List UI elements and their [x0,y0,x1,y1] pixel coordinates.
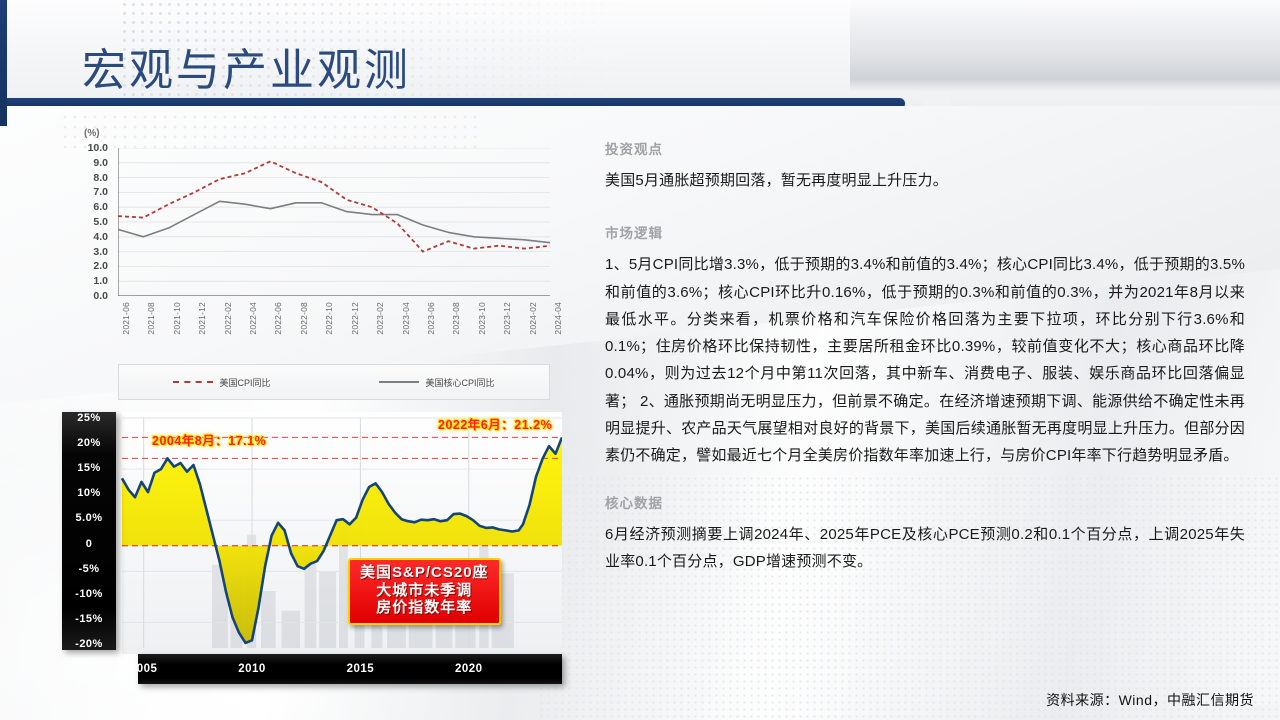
section-body-market-logic: 1、5月CPI同比增3.3%，低于预期的3.4%和前值的3.4%；核心CPI同比… [605,251,1245,469]
chart-us-cpi-x-tick: 2022-04 [248,302,258,335]
chart-sp-cs20-y-tick: 0 [62,538,116,550]
chart-us-cpi-x-tick: 2022-06 [273,302,283,335]
left-accent-bar [0,0,7,126]
chart-sp-cs20-title: 美国S&P/CS20座 大城市未季调 房价指数年率 [348,558,501,625]
section-heading-core-data: 核心数据 [605,492,1245,512]
source-note: 资料来源：Wind，中融汇信期货 [1046,690,1254,710]
chart-us-cpi-x-tick: 2023-12 [502,302,512,335]
chart-sp-cs20-y-tick: 15% [62,462,116,474]
header-gradient-panel [850,0,1280,92]
annotation-2022-peak: 2022年6月：21.2% [438,414,552,433]
chart-us-cpi-legend: 美国CPI同比 美国核心CPI同比 [118,364,550,400]
page-title: 宏观与产业观测 [82,34,411,98]
chart-us-cpi-y-tick: 3.0 [93,246,108,258]
chart-us-cpi-y-tick: 9.0 [93,157,108,169]
chart-sp-cs20-title-line2: 大城市未季调 [360,582,489,600]
chart-us-cpi-y-tick: 2.0 [93,260,108,272]
chart-us-cpi-y-tick: 10.0 [88,142,108,154]
chart-us-cpi-plot [118,148,550,296]
legend-item-cpi: 美国CPI同比 [173,376,270,389]
chart-sp-cs20-y-tick: 20% [62,437,116,449]
chart-sp-cs20-x-tick: 2010 [238,663,266,675]
chart-us-cpi-x-tick: 2022-08 [299,302,309,335]
chart-us-cpi-y-axis: 0.01.02.03.04.05.06.07.08.09.010.0 [62,148,112,296]
chart-us-cpi-y-tick: 8.0 [93,172,108,184]
chart-us-cpi-x-tick: 2024-02 [528,302,538,335]
chart-us-cpi-y-tick: 4.0 [93,231,108,243]
slide-header: 宏观与产业观测 [0,0,1280,106]
chart-sp-cs20-x-tick: 2015 [347,663,375,675]
section-investment-view: 投资观点 美国5月通胀超预期回落，暂无再度明显上升压力。 [605,138,1245,194]
chart-us-cpi-unit: (%) [84,128,100,139]
legend-swatch-dashed-icon [173,381,213,383]
chart-us-cpi: (%) 0.01.02.03.04.05.06.07.08.09.010.0 2… [62,126,562,406]
chart-sp-cs20-y-tick: 5.0% [62,512,116,524]
header-accent-rule-cap [890,92,950,106]
chart-us-cpi-x-tick: 2022-12 [350,302,360,335]
header-accent-rule [0,98,905,106]
legend-label-core-cpi: 美国核心CPI同比 [425,376,494,389]
chart-sp-cs20-x-axis: 2005201020152020 [138,654,562,684]
chart-us-cpi-x-tick: 2021-10 [172,302,182,335]
chart-us-cpi-x-tick: 2023-08 [451,302,461,335]
spacer-1 [605,194,1245,222]
chart-sp-cs20-y-tick: -10% [62,588,116,600]
slide-root: 宏观与产业观测 (%) 0.01.02.03.04.05.06.07.08.09… [0,0,1280,720]
section-body-investment-view: 美国5月通胀超预期回落，暂无再度明显上升压力。 [605,167,1245,194]
chart-us-cpi-y-tick: 1.0 [93,275,108,287]
chart-us-cpi-x-tick: 2021-12 [197,302,207,335]
chart-sp-cs20-y-tick: 25% [62,412,116,424]
section-market-logic: 市场逻辑 1、5月CPI同比增3.3%，低于预期的3.4%和前值的3.4%；核心… [605,222,1245,469]
chart-sp-cs20-y-tick: -15% [62,613,116,625]
section-body-core-data: 6月经济预测摘要上调2024年、2025年PCE及核心PCE预测0.2和0.1个… [605,521,1245,576]
chart-us-cpi-x-tick: 2023-06 [426,302,436,335]
chart-sp-cs20-y-tick: 10% [62,487,116,499]
chart-sp-cs20-y-tick: -20% [62,638,116,650]
chart-us-cpi-x-tick: 2023-10 [477,302,487,335]
chart-sp-cs20-y-axis: 25%20%15%10%5.0%0-5%-10%-15%-20% [62,412,116,650]
chart-sp-cs20-title-line1: 美国S&P/CS20座 [360,564,489,582]
chart-us-cpi-x-tick: 2022-10 [324,302,334,335]
section-core-data: 核心数据 6月经济预测摘要上调2024年、2025年PCE及核心PCE预测0.2… [605,492,1245,576]
annotation-2004-peak: 2004年8月：17.1% [152,430,266,449]
chart-sp-cs20-x-tick: 2020 [455,663,483,675]
chart-sp-cs20-x-tick: 2005 [130,663,158,675]
chart-sp-cs20-title-line3: 房价指数年率 [360,599,489,617]
legend-label-cpi: 美国CPI同比 [219,376,270,389]
chart-us-cpi-y-tick: 7.0 [93,186,108,198]
chart-us-cpi-y-tick: 5.0 [93,216,108,228]
spacer-2 [605,470,1245,492]
section-heading-investment-view: 投资观点 [605,138,1245,158]
chart-us-cpi-y-tick: 6.0 [93,201,108,213]
chart-us-cpi-x-tick: 2023-02 [375,302,385,335]
chart-us-cpi-x-tick: 2022-02 [223,302,233,335]
chart-us-cpi-x-tick: 2021-06 [121,302,131,335]
chart-sp-cs20-plot [62,412,562,684]
chart-sp-cs20-y-tick: -5% [62,563,116,575]
legend-swatch-solid-icon [379,381,419,383]
chart-us-cpi-x-tick: 2021-08 [146,302,156,335]
legend-item-core-cpi: 美国核心CPI同比 [379,376,494,389]
chart-us-cpi-x-tick: 2024-04 [553,302,563,335]
commentary-panel: 投资观点 美国5月通胀超预期回落，暂无再度明显上升压力。 市场逻辑 1、5月CP… [605,138,1245,575]
chart-us-cpi-x-tick: 2023-04 [401,302,411,335]
chart-sp-cs20: 25%20%15%10%5.0%0-5%-10%-15%-20% 2005201… [62,412,562,684]
section-heading-market-logic: 市场逻辑 [605,222,1245,242]
chart-us-cpi-y-tick: 0.0 [93,290,108,302]
